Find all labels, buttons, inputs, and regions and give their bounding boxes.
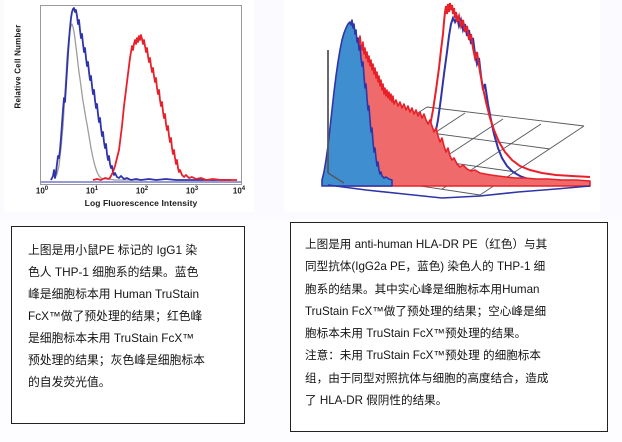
caption-left-line: 的自发荧光值。 — [28, 371, 230, 393]
plot-area — [40, 5, 242, 185]
x-tick-1: 101 — [86, 186, 98, 196]
caption-box-right: 上图是用 anti-human HLA-DR PE（红色）与其 同型抗体(IgG… — [290, 222, 608, 432]
caption-right-line: 胞标本未用 TruStain FcX™预处理的结果。 — [305, 323, 595, 345]
histogram-traces — [41, 6, 241, 184]
x-axis-label: Log Fluorescence Intensity — [40, 198, 242, 208]
blue-trace — [51, 8, 231, 180]
y-axis-label: Relative Cell Number — [14, 7, 23, 127]
page-tint-middle — [254, 0, 284, 215]
caption-left-line: 色人 THP-1 细胞系的结果。蓝色 — [28, 261, 230, 283]
caption-box-left: 上图是用小鼠PE 标记的 IgG1 染 色人 THP-1 细胞系的结果。蓝色 峰… — [11, 226, 245, 424]
caption-right-line: TruStain FcX™做了预处理的结果；空心峰是细 — [305, 301, 595, 323]
caption-right-line: 了 HLA-DR 假阴性的结果。 — [305, 390, 595, 412]
caption-left-line: 上图是用小鼠PE 标记的 IgG1 染 — [28, 239, 230, 261]
caption-right-line: 同型抗体(IgG2a PE，蓝色) 染色人的 THP-1 细 — [305, 256, 595, 278]
flow-histogram-2d: Relative Cell Number 100 101 102 103 104… — [4, 0, 254, 212]
caption-right-line: 组，由于同型对照抗体与细胞的高度结合，造成 — [305, 368, 595, 390]
caption-left-line: 峰是细胞标本用 Human TruStain — [28, 283, 230, 305]
page-tint-right — [600, 0, 622, 215]
caption-right-line: 注意：未用 TruStain FcX™预处理 的细胞标本 — [305, 345, 595, 367]
caption-left-line: FcX™做了预处理的结果；红色峰 — [28, 305, 230, 327]
x-tick-4: 104 — [233, 186, 245, 196]
caption-left-line: 是细胞标本未用 TruStain FcX™ — [28, 327, 230, 349]
x-tick-3: 103 — [186, 186, 198, 196]
caption-left-line: 预处理的结果；灰色峰是细胞标本 — [28, 349, 230, 371]
flow-histogram-3d — [284, 0, 600, 212]
caption-right-line: 胞系的结果。其中实心峰是细胞标本用Human — [305, 279, 595, 301]
red-trace — [93, 35, 237, 180]
x-tick-2: 102 — [136, 186, 148, 196]
x-tick-0: 100 — [36, 186, 48, 196]
histogram-3d-canvas — [284, 0, 600, 212]
caption-right-line: 上图是用 anti-human HLA-DR PE（红色）与其 — [305, 234, 595, 256]
